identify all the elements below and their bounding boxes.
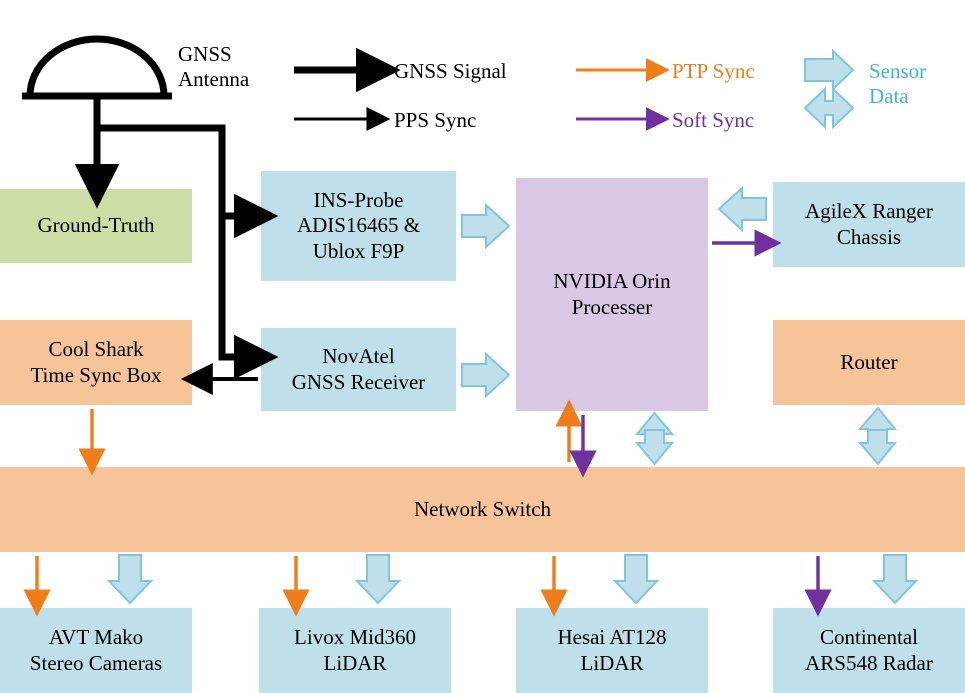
node-ins-probe-line1: INS-Probe	[314, 188, 404, 214]
node-avt-mako-line2: Stereo Cameras	[30, 651, 162, 677]
block-arrow-avt-mako-to-switch	[109, 555, 151, 603]
block-arrow-livox-to-switch	[357, 555, 399, 603]
node-ins-probe-line2: ADIS16465 &	[297, 213, 420, 239]
node-network-switch[interactable]: Network Switch	[0, 467, 965, 552]
node-router-label: Router	[840, 350, 897, 376]
block-arrow-novatel-to-orin	[462, 354, 509, 396]
node-nvidia-orin[interactable]: NVIDIA Orin Processer	[516, 178, 708, 411]
node-hesai-line2: LiDAR	[581, 651, 644, 677]
legend-item-pps-sync-label: PPS Sync	[394, 108, 476, 133]
node-hesai[interactable]: Hesai AT128 LiDAR	[516, 608, 708, 693]
node-cool-shark-line2: Time Sync Box	[30, 363, 161, 389]
legend-sensor-data-line1: Sensor	[869, 59, 926, 84]
node-avt-mako-line1: AVT Mako	[49, 625, 143, 651]
node-agilex-ranger-line2: Chassis	[837, 225, 901, 251]
legend-item-soft-sync-label: Soft Sync	[672, 108, 754, 133]
node-cool-shark[interactable]: Cool Shark Time Sync Box	[0, 320, 192, 405]
gnss-antenna-label-line1: GNSS	[178, 42, 249, 67]
arrow-antenna-to-novatel	[222, 216, 252, 357]
legend-item-gnss-signal-label: GNSS Signal	[394, 59, 507, 84]
gnss-antenna-icon	[22, 39, 172, 143]
node-continental[interactable]: Continental ARS548 Radar	[773, 608, 965, 693]
node-novatel-line1: NovAtel	[322, 344, 394, 370]
node-nvidia-orin-line1: NVIDIA Orin	[553, 269, 670, 295]
node-ground-truth-label: Ground-Truth	[37, 213, 154, 239]
legend-block-arrow-right	[805, 51, 853, 89]
node-nvidia-orin-line2: Processer	[572, 295, 652, 321]
node-ins-probe[interactable]: INS-Probe ADIS16465 & Ublox F9P	[261, 171, 456, 281]
node-hesai-line1: Hesai AT128	[557, 625, 666, 651]
block-arrow-agilex-to-orin	[719, 188, 766, 230]
node-ground-truth[interactable]: Ground-Truth	[0, 189, 192, 263]
node-avt-mako[interactable]: AVT Mako Stereo Cameras	[0, 608, 192, 693]
node-cool-shark-line1: Cool Shark	[48, 337, 143, 363]
node-continental-line2: ARS548 Radar	[805, 651, 933, 677]
block-arrow-router-switch-bidirectional	[860, 408, 895, 464]
legend-sensor-data-line2: Data	[869, 84, 926, 109]
node-router[interactable]: Router	[773, 320, 965, 405]
legend-block-arrow-double	[805, 89, 853, 127]
gnss-antenna-label-line2: Antenna	[178, 67, 249, 92]
legend-item-sensor-data-label: Sensor Data	[869, 59, 926, 109]
legend-item-ptp-sync-label: PTP Sync	[672, 59, 755, 84]
node-novatel-line2: GNSS Receiver	[292, 370, 426, 396]
node-livox-line2: LiDAR	[324, 651, 387, 677]
node-continental-line1: Continental	[820, 625, 918, 651]
block-arrow-continental-to-switch	[874, 555, 916, 603]
node-novatel[interactable]: NovAtel GNSS Receiver	[261, 328, 456, 411]
block-arrow-ins-probe-to-orin	[462, 205, 509, 247]
node-agilex-ranger-line1: AgileX Ranger	[805, 199, 933, 225]
block-arrow-hesai-to-switch	[615, 555, 657, 603]
node-livox-line1: Livox Mid360	[294, 625, 416, 651]
node-ins-probe-line3: Ublox F9P	[313, 239, 405, 265]
block-arrow-orin-switch-bidirectional	[637, 413, 672, 464]
node-network-switch-label: Network Switch	[414, 497, 551, 523]
node-livox[interactable]: Livox Mid360 LiDAR	[259, 608, 451, 693]
node-agilex-ranger[interactable]: AgileX Ranger Chassis	[773, 182, 965, 267]
gnss-antenna-label: GNSS Antenna	[178, 42, 249, 92]
